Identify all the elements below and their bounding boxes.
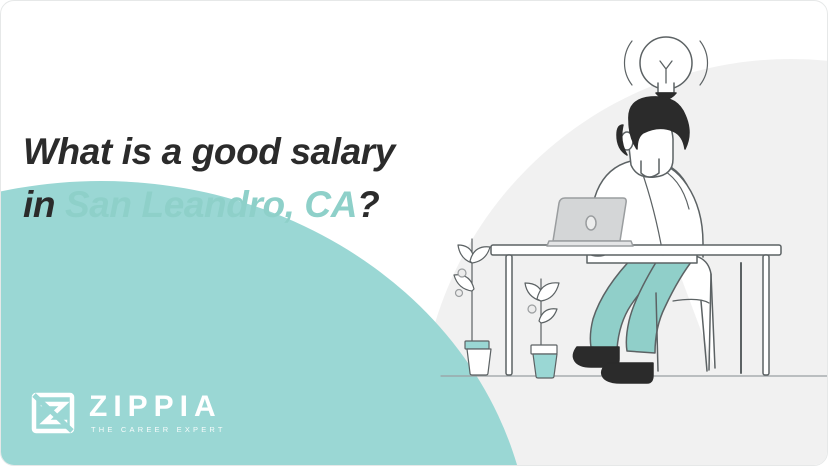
headline-line-1: What is a good salary (23, 125, 443, 178)
headline-question-mark: ? (357, 184, 379, 225)
logo-tagline: THE CAREER EXPERT (91, 425, 226, 434)
plant-right-icon (525, 279, 559, 378)
headline-prefix: in (23, 184, 65, 225)
idea-lightbulb-icon (624, 37, 707, 99)
zippia-logo[interactable]: ZIPPIA THE CAREER EXPERT (31, 391, 226, 435)
headline-location: San Leandro, CA (65, 184, 357, 225)
salary-promo-card: What is a good salary in San Leandro, CA… (0, 0, 828, 466)
logo-wordmark: ZIPPIA (89, 392, 226, 422)
plant-left-icon (454, 239, 491, 375)
headline-line-2: in San Leandro, CA? (23, 178, 443, 231)
person-legs (573, 251, 695, 383)
page-title: What is a good salary in San Leandro, CA… (23, 125, 443, 231)
laptop-icon (547, 198, 633, 246)
logo-text: ZIPPIA THE CAREER EXPERT (89, 392, 226, 434)
zippia-z-mark-icon (31, 391, 75, 435)
